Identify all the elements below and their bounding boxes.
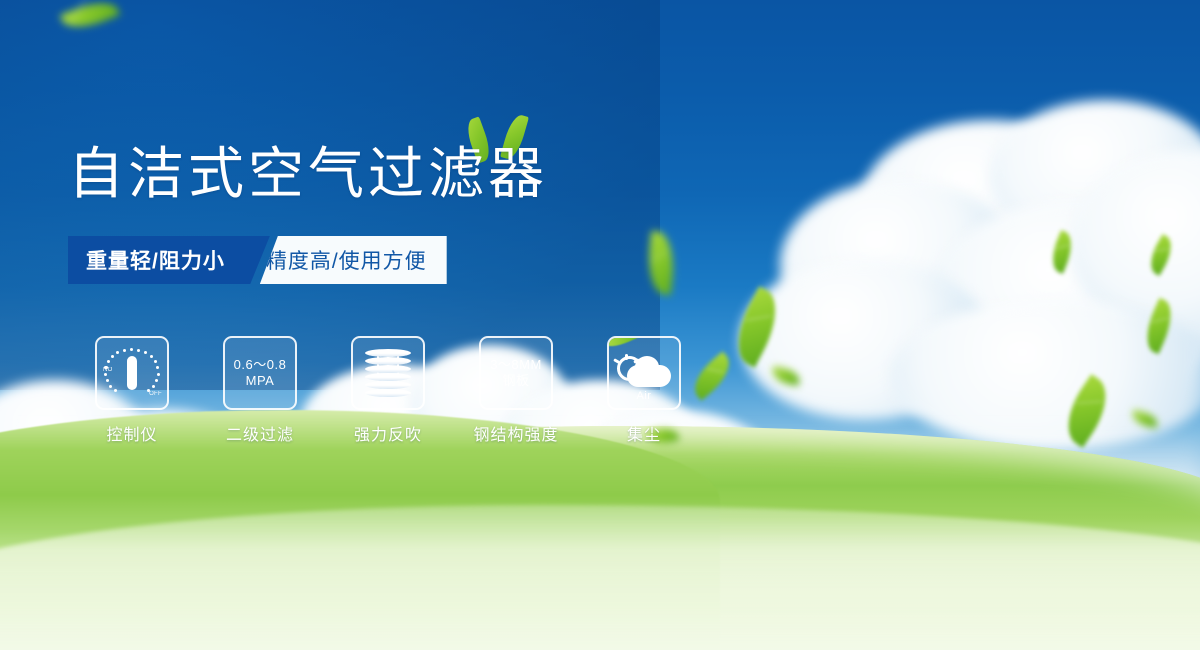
feature-label: 集尘	[627, 421, 661, 445]
pressure-line-2: MPA	[234, 373, 287, 389]
page-title: 自洁式空气过滤器	[68, 142, 548, 206]
feature-item[interactable]: Air 集尘	[580, 336, 708, 445]
feature-label: 控制仪	[106, 421, 157, 445]
feature-icon-box: NO OFF	[95, 336, 169, 410]
steel-plate-text-icon: 3～8MM 钢板	[490, 357, 542, 389]
steel-line-2: 钢板	[490, 373, 542, 389]
feature-icon-box	[351, 336, 425, 410]
cloud-right-cumulus	[740, 110, 1200, 440]
feature-item[interactable]: 3～8MM 钢板 钢结构强度	[452, 336, 580, 445]
gauge-off-label: OFF	[149, 391, 162, 397]
feature-icon-box: 0.6～0.8 MPA	[223, 336, 297, 410]
feature-icon-box: Air	[607, 336, 681, 410]
subtitle-right: 精度高/使用方便	[260, 236, 447, 284]
subtitle-bar: 重量轻/阻力小 精度高/使用方便	[68, 236, 447, 284]
feature-item[interactable]: NO OFF 控制仪	[68, 336, 196, 445]
gauge-no-label: NO	[103, 367, 113, 373]
pressure-text-icon: 0.6～0.8 MPA	[234, 357, 287, 389]
feature-label: 二级过滤	[226, 421, 294, 445]
feature-label: 钢结构强度	[473, 421, 558, 445]
feature-list: NO OFF 控制仪 0.6～0.8 MPA 二级过滤	[68, 336, 708, 445]
hero-banner: 自洁式空气过滤器 重量轻/阻力小 精度高/使用方便	[0, 0, 1200, 650]
filter-stack-icon	[365, 349, 411, 397]
air-label: Air	[637, 390, 652, 402]
feature-item[interactable]: 强力反吹	[324, 336, 452, 445]
feature-icon-box: 3～8MM 钢板	[479, 336, 553, 410]
gauge-icon: NO OFF	[104, 347, 160, 399]
feature-label: 强力反吹	[354, 421, 422, 445]
pressure-line-1: 0.6～0.8	[234, 357, 287, 373]
cloud-air-icon	[615, 349, 673, 389]
ground-highlight	[0, 530, 1200, 650]
steel-line-1: 3～8MM	[490, 357, 542, 373]
subtitle-left: 重量轻/阻力小	[68, 236, 243, 284]
feature-item[interactable]: 0.6～0.8 MPA 二级过滤	[196, 336, 324, 445]
